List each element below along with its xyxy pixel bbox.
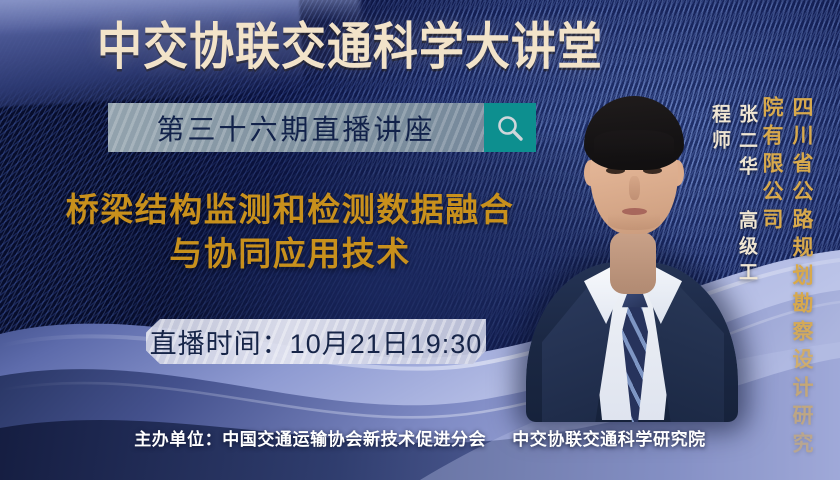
footer-organizer-1: 中国交通运输协会新技术促进分会 <box>222 430 486 449</box>
footer-organizers: 主办单位：中国交通运输协会新技术促进分会中交协联交通科学研究院 <box>0 425 840 450</box>
broadcast-time-text: 直播时间：10月21日19:30 <box>150 322 483 361</box>
episode-band: 第三十六期直播讲座 <box>108 103 536 152</box>
topic-line-2: 与协同应用技术 <box>14 232 566 276</box>
broadcast-time-badge: 直播时间：10月21日19:30 <box>146 319 486 364</box>
portrait-hair <box>584 96 684 170</box>
footer-organizer-2: 中交协联交通科学研究院 <box>512 430 706 449</box>
speaker-company: 四川省公路规划勘察设计研究院有限公司 <box>756 96 816 470</box>
poster-headline: 中交协联交通科学大讲堂 <box>0 16 700 79</box>
topic-title: 桥梁结构监测和检测数据融合 与协同应用技术 <box>14 188 566 276</box>
portrait-neck <box>610 232 656 294</box>
search-icon[interactable] <box>484 103 536 152</box>
portrait-nose <box>629 176 640 200</box>
topic-line-1: 桥梁结构监测和检测数据融合 <box>66 191 515 228</box>
episode-label: 第三十六期直播讲座 <box>108 103 484 152</box>
webinar-poster: 中交协联交通科学大讲堂 第三十六期直播讲座 桥梁结构监测和检测数据融合 与协同应… <box>0 0 840 480</box>
footer-prefix: 主办单位： <box>134 430 222 449</box>
portrait-jaw-shadow <box>608 214 660 230</box>
speaker-name-title: 张二华 高级工程师 <box>706 104 760 312</box>
